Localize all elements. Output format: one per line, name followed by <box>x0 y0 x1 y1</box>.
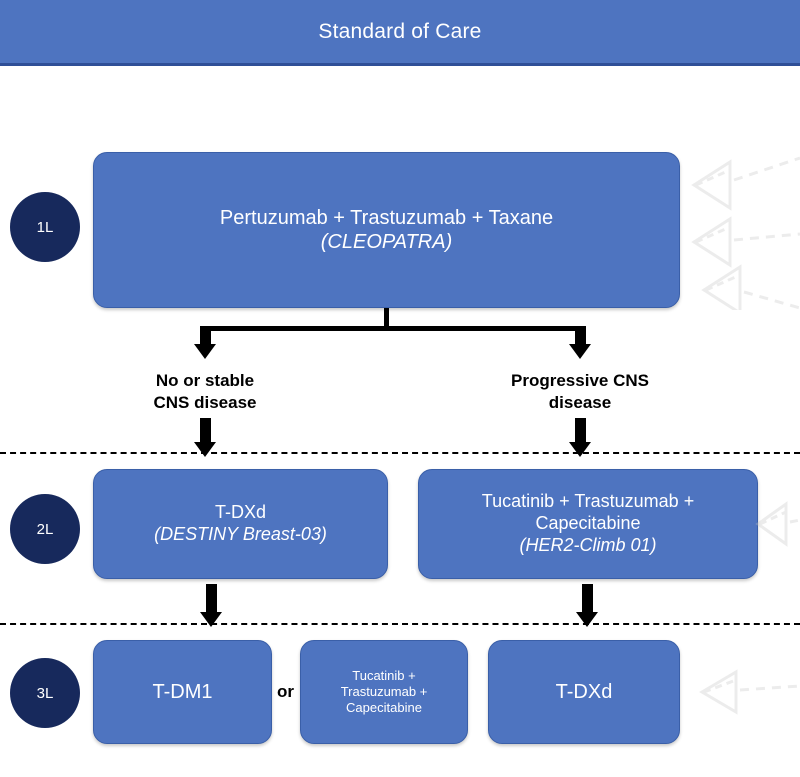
treatment-name: T-DXd <box>556 680 613 704</box>
treatment-box-third-line-middle[interactable]: Tucatinib + Trastuzumab + Capecitabine <box>300 640 468 744</box>
branch-label-right-line2: disease <box>549 393 611 412</box>
treatment-name: T-DXd <box>215 502 266 524</box>
line-badge-label: 3L <box>37 685 54 702</box>
line-badge-label: 2L <box>37 521 54 538</box>
or-connector-label: or <box>277 682 294 702</box>
treatment-box-third-line-right[interactable]: T-DXd <box>488 640 680 744</box>
second-to-third-left-stem <box>206 584 217 614</box>
treatment-name: Pertuzumab + Trastuzumab + Taxane <box>220 206 553 230</box>
branch-right-arrowhead <box>569 344 591 359</box>
branch-label-left: No or stable CNS disease <box>110 370 300 414</box>
line-badge-3l: 3L <box>10 658 80 728</box>
treatment-box-second-line-left[interactable]: T-DXd (DESTINY Breast-03) <box>93 469 388 579</box>
treatment-box-second-line-right[interactable]: Tucatinib + Trastuzumab + Capecitabine (… <box>418 469 758 579</box>
treatment-name-line3: Capecitabine <box>346 700 422 716</box>
decorative-arrow-icon <box>696 660 800 722</box>
header-banner: Standard of Care <box>0 0 800 66</box>
branch-left-stem-lower <box>200 418 211 444</box>
decorative-arrow-icon <box>752 490 800 560</box>
treatment-name: T-DM1 <box>153 680 213 704</box>
line-badge-2l: 2L <box>10 494 80 564</box>
branch-right-arrowhead-lower <box>569 442 591 457</box>
branch-label-left-line2: CNS disease <box>154 393 257 412</box>
treatment-name-line2: Trastuzumab + <box>341 684 428 700</box>
trial-name: (HER2-Climb 01) <box>519 535 656 557</box>
treatment-box-third-line-left[interactable]: T-DM1 <box>93 640 272 744</box>
branch-label-right: Progressive CNS disease <box>485 370 675 414</box>
branch-label-right-line1: Progressive CNS <box>511 371 649 390</box>
divider-line-2l-3l <box>0 623 800 625</box>
treatment-name-line1: Tucatinib + <box>352 668 415 684</box>
branch-left-stem <box>200 326 211 346</box>
line-badge-label: 1L <box>37 219 54 236</box>
branch-left-arrowhead-lower <box>194 442 216 457</box>
treatment-name-line2: Capecitabine <box>535 513 640 535</box>
divider-line-1l-2l <box>0 452 800 454</box>
page-title: Standard of Care <box>318 20 481 44</box>
branch-right-stem <box>575 326 586 346</box>
branch-left-arrowhead <box>194 344 216 359</box>
branch-right-stem-lower <box>575 418 586 444</box>
trial-name: (CLEOPATRA) <box>321 230 453 254</box>
trial-name: (DESTINY Breast-03) <box>154 524 327 546</box>
branch-crossbar <box>206 326 586 331</box>
treatment-name-line1: Tucatinib + Trastuzumab + <box>482 491 694 513</box>
second-to-third-right-stem <box>582 584 593 614</box>
branch-label-left-line1: No or stable <box>156 371 254 390</box>
treatment-box-first-line[interactable]: Pertuzumab + Trastuzumab + Taxane (CLEOP… <box>93 152 680 308</box>
line-badge-1l: 1L <box>10 192 80 262</box>
decorative-arrow-icon <box>686 150 800 310</box>
diagram-canvas: Standard of Care 1L Pertuzumab + Trastuz… <box>0 0 800 777</box>
